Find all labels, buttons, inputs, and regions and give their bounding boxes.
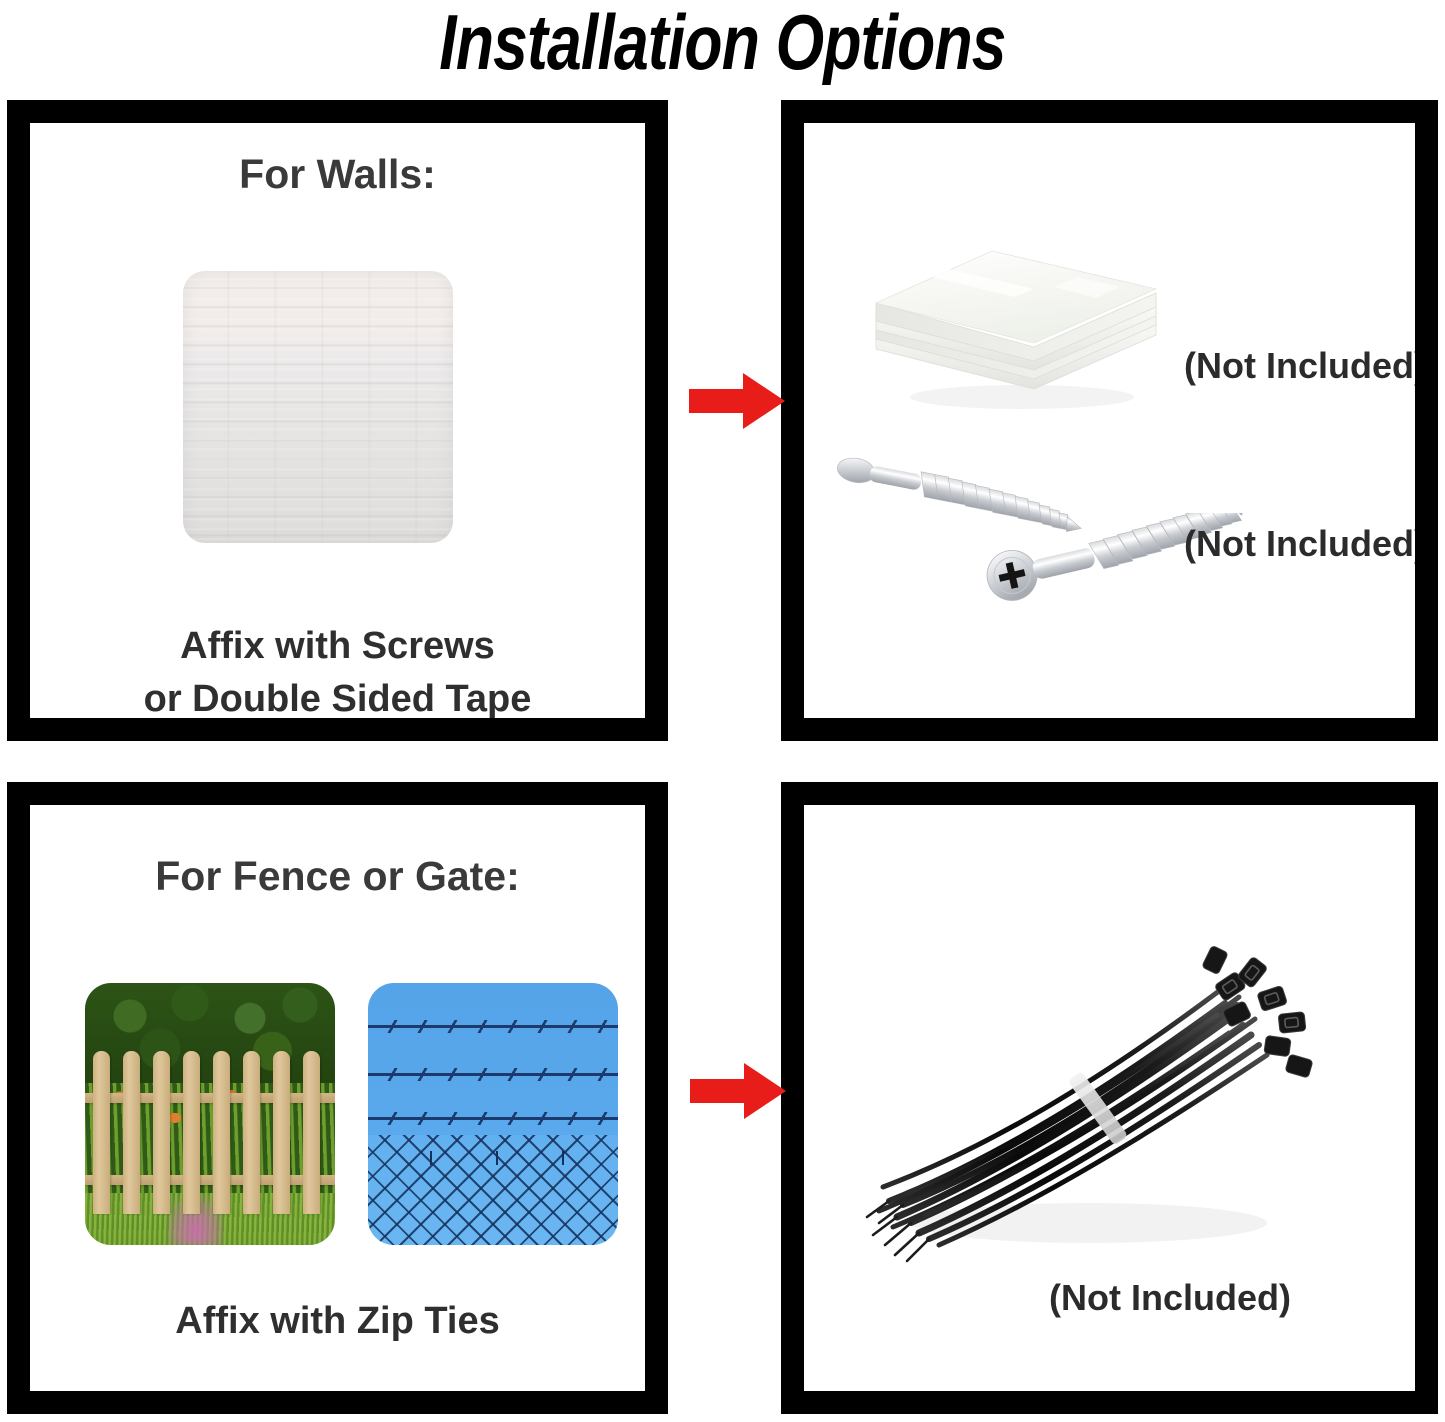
fence-picket	[153, 1051, 170, 1213]
panel-for-walls-inner: For Walls: Affix with Screws or Double S…	[30, 123, 645, 718]
panel-for-fence-inner: For Fence or Gate:	[30, 805, 645, 1391]
fence-picket	[273, 1051, 290, 1213]
black-zip-ties-bundle-icon	[859, 905, 1329, 1275]
walls-caption: Affix with Screws or Double Sided Tape	[30, 620, 645, 718]
barbed-wire-strand	[368, 1025, 618, 1028]
for-fence-or-gate-heading: For Fence or Gate:	[30, 853, 645, 900]
page-title: Installation Options	[145, 0, 1301, 88]
zip-ties-not-included-label: (Not Included)	[1049, 1277, 1291, 1319]
panel-hardware: (Not Included)	[781, 100, 1438, 741]
fence-picket	[93, 1051, 110, 1213]
panel-hardware-inner: (Not Included)	[804, 123, 1415, 718]
fence-picket	[183, 1051, 200, 1213]
panel-for-fence-or-gate: For Fence or Gate:	[7, 782, 668, 1414]
chain-link-fence-photo	[368, 983, 618, 1245]
for-walls-heading: For Walls:	[30, 151, 645, 198]
screw-not-included-label: (Not Included)	[1184, 523, 1415, 565]
wooden-picket-fence-photo	[85, 983, 335, 1245]
panel-zip-ties-inner: (Not Included)	[804, 805, 1415, 1391]
white-brick-wall-image	[183, 271, 453, 543]
walls-caption-line-2: or Double Sided Tape	[30, 673, 645, 718]
double-sided-tape-stack-icon	[864, 231, 1164, 416]
wire-tie	[430, 1151, 432, 1165]
red-right-arrow-icon-top	[687, 370, 787, 432]
barbed-wire-strand	[368, 1117, 618, 1120]
red-right-arrow-icon-bottom	[688, 1060, 788, 1122]
fence-picket	[243, 1051, 260, 1213]
fence-caption: Affix with Zip Ties	[30, 1295, 645, 1348]
fence-pickets	[85, 1051, 335, 1213]
fence-picket	[303, 1051, 320, 1213]
tape-not-included-label: (Not Included)	[1184, 345, 1415, 387]
panel-zip-ties: (Not Included)	[781, 782, 1438, 1414]
panel-for-walls: For Walls: Affix with Screws or Double S…	[7, 100, 668, 741]
wire-tie	[562, 1151, 564, 1165]
fence-picket	[213, 1051, 230, 1213]
wire-tie	[496, 1151, 498, 1165]
fence-picket	[123, 1051, 140, 1213]
chain-link-mesh	[368, 1135, 618, 1245]
barbed-wire-strand	[368, 1073, 618, 1076]
walls-caption-line-1: Affix with Screws	[30, 620, 645, 673]
